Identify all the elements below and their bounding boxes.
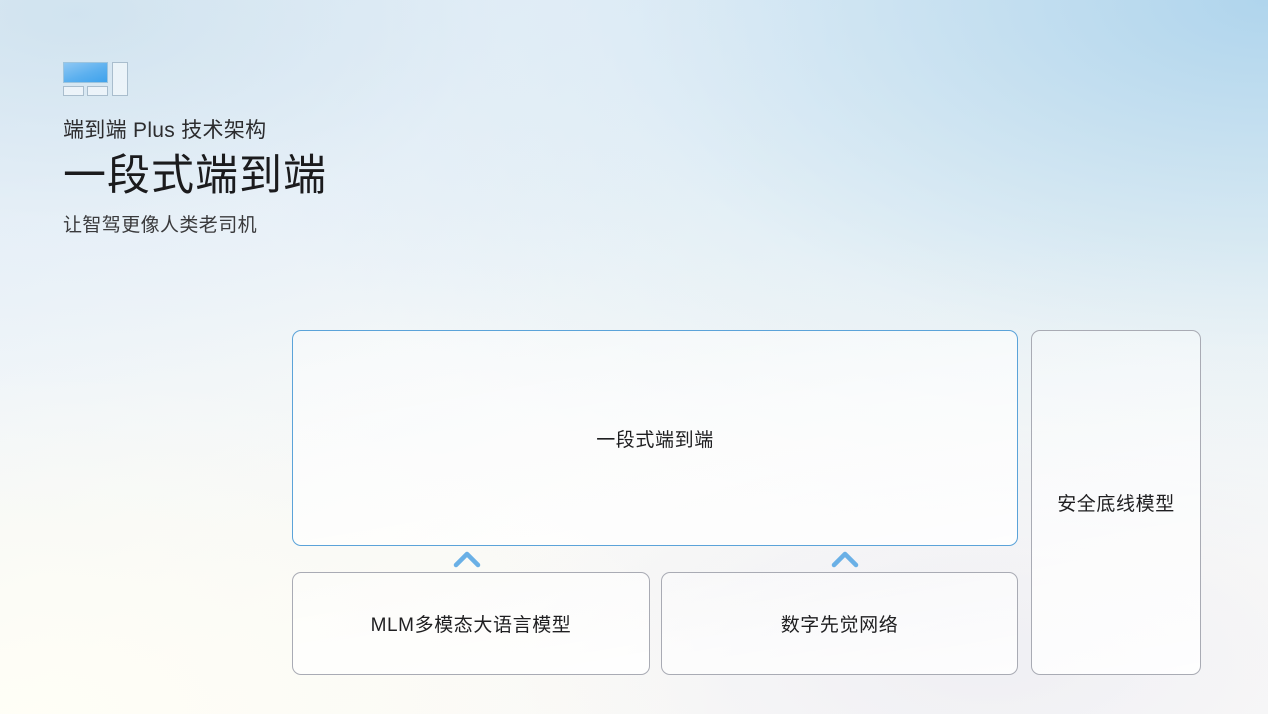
architecture-diagram: 一段式端到端 安全底线模型 MLM多模态大语言模型 数字先觉网络 (0, 0, 1268, 714)
chevron-up-icon (831, 550, 859, 568)
diagram-node-digital-perception-network[interactable]: 数字先觉网络 (661, 572, 1018, 675)
chevron-up-icon (453, 550, 481, 568)
diagram-node-label: 数字先觉网络 (781, 610, 899, 637)
diagram-node-safety-baseline-model[interactable]: 安全底线模型 (1031, 330, 1201, 675)
diagram-node-label: 一段式端到端 (596, 425, 714, 452)
slide-canvas: 端到端 Plus 技术架构 一段式端到端 让智驾更像人类老司机 一段式端到端 安… (0, 0, 1268, 714)
diagram-node-label: 安全底线模型 (1057, 489, 1175, 516)
diagram-node-end-to-end[interactable]: 一段式端到端 (292, 330, 1018, 546)
diagram-node-mlm-multimodal-llm[interactable]: MLM多模态大语言模型 (292, 572, 650, 675)
diagram-node-label: MLM多模态大语言模型 (371, 610, 572, 637)
